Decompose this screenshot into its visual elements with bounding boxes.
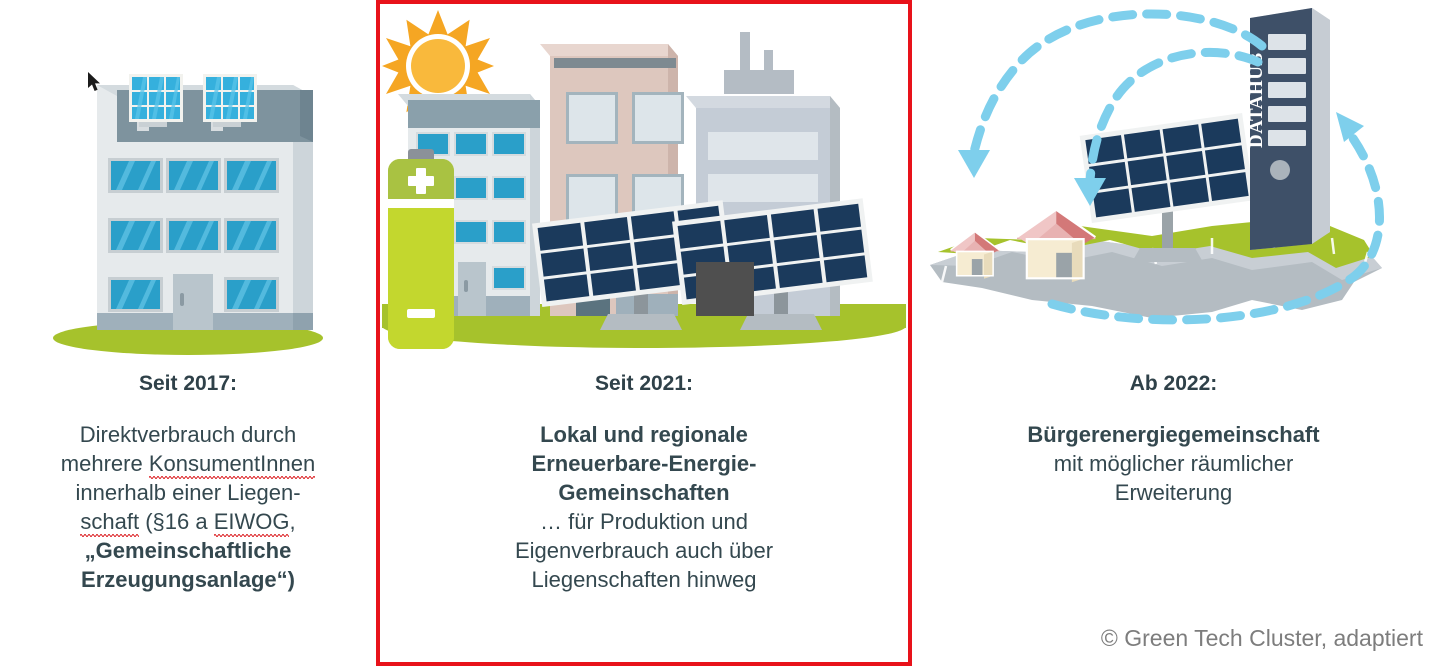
caption-line: Lokal und regionale (398, 420, 890, 449)
caption-heading: Seit 2017: (14, 370, 362, 398)
caption-line: Erzeugungsanlage“) (14, 565, 362, 594)
caption-heading: Ab 2022: (926, 370, 1421, 398)
illustration-apartment-building-with-rooftop-solar (0, 0, 376, 370)
timeline-column-2017: Seit 2017: Direktverbrauch durch mehrere… (0, 0, 376, 666)
datahub-label: DATAHUB (1246, 52, 1267, 148)
window-row-2 (108, 218, 279, 253)
building-base-left (97, 313, 173, 330)
timeline-column-2021-highlighted: Seit 2021: Lokal und regionale Erneuerba… (376, 0, 912, 666)
caption-2017: Seit 2017: Direktverbrauch durch mehrere… (0, 370, 376, 594)
caption-heading: Seit 2021: (398, 370, 890, 398)
roof-dark-band-side (300, 90, 313, 142)
datahub-indicator-dot (1270, 160, 1290, 180)
door-handle (180, 293, 184, 306)
battery-storage-icon (388, 149, 454, 349)
caption-line: Erneuerbare-Energie- (398, 449, 890, 478)
caption-2022: Ab 2022: Bürgerenergiegemeinschaft mit m… (912, 370, 1435, 507)
caption-line: „Gemeinschaftliche (14, 536, 362, 565)
caption-line: Erweiterung (926, 478, 1421, 507)
tower-doorway (696, 262, 754, 316)
caption-line: … für Produktion und (398, 507, 890, 536)
slide-canvas: Seit 2017: Direktverbrauch durch mehrere… (0, 0, 1435, 666)
city-2021-svg (380, 4, 908, 366)
arrowhead-to-house-1 (958, 150, 990, 178)
copyright-credit: © Green Tech Cluster, adaptiert (1101, 625, 1423, 652)
building-base-right (213, 313, 293, 330)
caption-line: mehrere KonsumentInnen (14, 449, 362, 478)
illustration-city-block-with-sun-battery-and-ground-solar (380, 4, 908, 370)
caption-line: schaft (§16 a EIWOG, (14, 507, 362, 536)
caption-line: Gemeinschaften (398, 478, 890, 507)
caption-line: Liegenschaften hinweg (398, 565, 890, 594)
building-2017-svg (0, 0, 376, 370)
building-base-side (293, 313, 313, 330)
spellcheck-word: schaft (80, 509, 139, 537)
spellcheck-word: KonsumentInnen (149, 451, 315, 479)
caption-line: Bürgerenergiegemeinschaft (926, 420, 1421, 449)
caption-line: innerhalb einer Liegen- (14, 478, 362, 507)
mouse-cursor-icon (88, 72, 104, 94)
blue-building-door (458, 262, 486, 316)
region-2022-svg: DATAHUB (912, 0, 1435, 370)
entrance-door (173, 274, 213, 330)
caption-line: mit möglicher räumlicher (926, 449, 1421, 478)
timeline-column-2022: DATAHUB Ab 2022: Bürgerenergiegemeinscha… (912, 0, 1435, 666)
caption-line: Eigenverbrauch auch über (398, 536, 890, 565)
spellcheck-word: EIWOG (214, 509, 290, 537)
battery-minus-label (407, 309, 435, 318)
caption-line: Direktverbrauch durch (14, 420, 362, 449)
caption-2021: Seit 2021: Lokal und regionale Erneuerba… (380, 370, 908, 594)
house-2 (1017, 210, 1095, 283)
illustration-region-map-with-houses-solar-and-datahub: DATAHUB (912, 0, 1435, 370)
window-row-1 (108, 158, 279, 193)
